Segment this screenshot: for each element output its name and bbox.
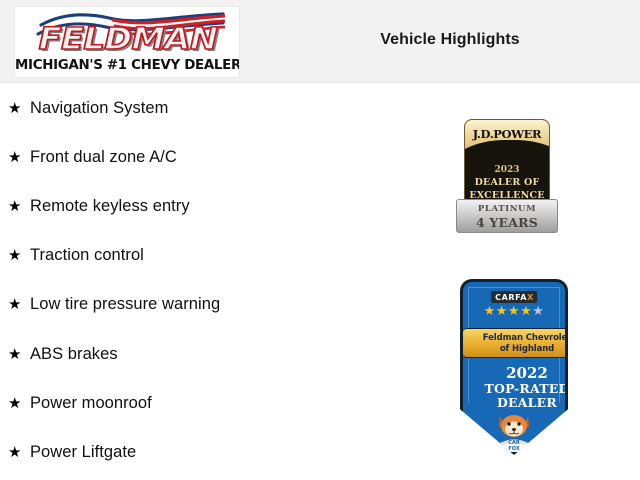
feature-item: ★Traction control bbox=[8, 244, 144, 268]
jd-power-badge[interactable]: J.D.POWER 2023 DEALER OF EXCELLENCE PLAT… bbox=[456, 119, 558, 235]
carfax-logo-accent: X bbox=[527, 293, 534, 302]
car-fox-mascot-icon: CAR FOX bbox=[492, 410, 536, 455]
logo-tagline: MICHIGAN'S #1 CHEVY DEALER bbox=[14, 58, 240, 73]
feature-label: Traction control bbox=[30, 246, 144, 265]
feature-label: ABS brakes bbox=[30, 345, 118, 364]
star-bullet-icon: ★ bbox=[8, 199, 30, 214]
star-bullet-icon: ★ bbox=[8, 445, 30, 460]
carfax-dealer-ribbon: Feldman Chevrolet of Highland bbox=[463, 328, 568, 358]
jd-power-tier: PLATINUM bbox=[457, 204, 557, 214]
star-bullet-icon: ★ bbox=[8, 150, 30, 165]
carfax-top-rated-dealer-badge[interactable]: CARFAX ★★★★★ 2022 TOP-RATED DEALER bbox=[450, 279, 578, 459]
feature-label: Remote keyless entry bbox=[30, 197, 190, 216]
feature-label: Power Liftgate bbox=[30, 443, 136, 462]
star-bullet-icon: ★ bbox=[8, 101, 30, 116]
carfax-logo-main: CARFA bbox=[495, 293, 527, 302]
carfax-logo: CARFAX bbox=[491, 291, 537, 303]
feature-item: ★Power Liftgate bbox=[8, 440, 136, 464]
page-header: FELDMAN MICHIGAN'S #1 CHEVY DEALER Vehic… bbox=[0, 0, 640, 83]
carfax-shield: CARFAX ★★★★★ 2022 TOP-RATED DEALER bbox=[460, 279, 568, 455]
star-bullet-icon: ★ bbox=[8, 396, 30, 411]
feature-item: ★Low tire pressure warning bbox=[8, 293, 220, 317]
car-fox-shirt-line2: FOX bbox=[492, 446, 536, 452]
jd-power-year: 2023 bbox=[465, 165, 549, 175]
feature-label: Power moonroof bbox=[30, 394, 152, 413]
page-title: Vehicle Highlights bbox=[300, 31, 600, 49]
logo-wordmark: FELDMAN bbox=[14, 24, 240, 56]
feature-item: ★ABS brakes bbox=[8, 342, 118, 366]
carfax-stars-filled: ★★★★ bbox=[484, 304, 533, 319]
feature-item: ★Power moonroof bbox=[8, 391, 152, 415]
feature-label: Front dual zone A/C bbox=[30, 148, 177, 167]
jd-power-award-line1: DEALER OF bbox=[465, 177, 549, 188]
dealer-logo[interactable]: FELDMAN MICHIGAN'S #1 CHEVY DEALER bbox=[14, 6, 240, 78]
award-badges: J.D.POWER 2023 DEALER OF EXCELLENCE PLAT… bbox=[440, 83, 640, 480]
carfax-dealer-line1: Feldman Chevrolet bbox=[463, 333, 568, 343]
star-bullet-icon: ★ bbox=[8, 347, 30, 362]
jd-power-tier-ribbon: PLATINUM 4 YEARS bbox=[456, 199, 558, 233]
feature-item: ★Front dual zone A/C bbox=[8, 145, 177, 169]
star-bullet-icon: ★ bbox=[8, 297, 30, 312]
star-bullet-icon: ★ bbox=[8, 248, 30, 263]
jd-power-duration: 4 YEARS bbox=[457, 215, 557, 230]
carfax-dealer-line2: of Highland bbox=[463, 344, 568, 354]
feature-label: Navigation System bbox=[30, 99, 168, 118]
car-fox-shirt-text: CAR FOX bbox=[492, 440, 536, 452]
carfax-star-rating: ★★★★★ bbox=[463, 305, 565, 319]
carfax-award-line2: DEALER bbox=[463, 395, 568, 410]
feature-item: ★Navigation System bbox=[8, 96, 168, 120]
carfax-award-line1: TOP-RATED bbox=[463, 381, 568, 396]
jd-power-plate: J.D.POWER 2023 DEALER OF EXCELLENCE bbox=[464, 119, 550, 211]
jd-power-brand: J.D.POWER bbox=[465, 127, 549, 141]
carfax-year: 2022 bbox=[463, 364, 568, 382]
carfax-stars-dim: ★ bbox=[532, 304, 544, 319]
feature-item: ★Remote keyless entry bbox=[8, 194, 190, 218]
feature-label: Low tire pressure warning bbox=[30, 295, 220, 314]
jd-power-swoosh-shape bbox=[464, 140, 550, 182]
